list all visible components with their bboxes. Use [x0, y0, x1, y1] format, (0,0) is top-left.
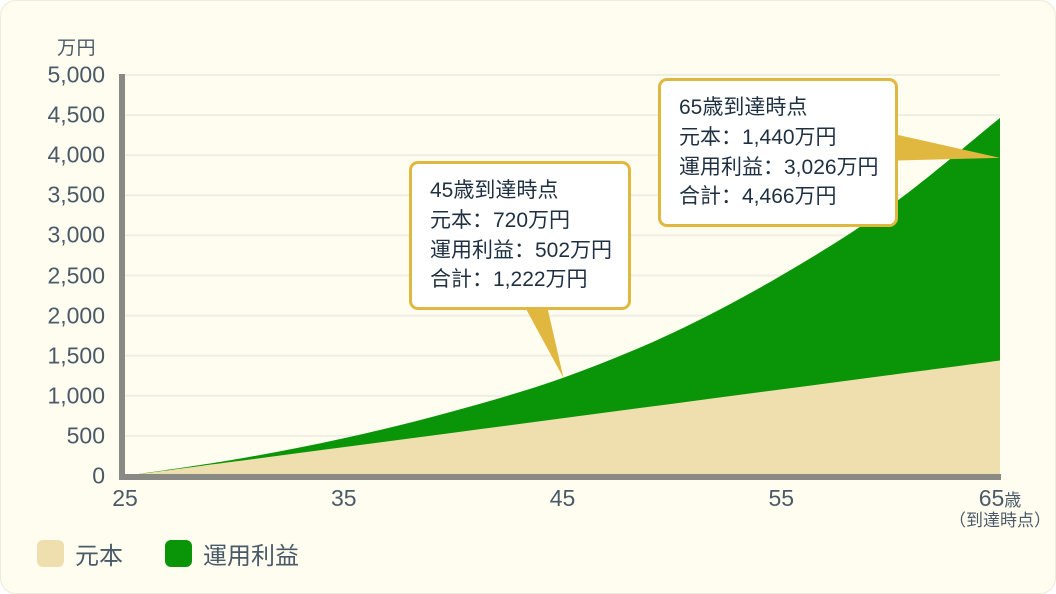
annotation-gain-age45: 運用利益：502万円: [430, 236, 612, 266]
x-axis-tick-45: 45: [550, 485, 576, 511]
y-axis-tick-2000: 2,000: [9, 302, 105, 329]
x-axis-tick-65: 65歳（到達時点）: [949, 485, 1051, 531]
x-axis-tick-55: 55: [768, 485, 794, 511]
annotation-tooltip-age65: 65歳到達時点 元本：1,440万円 運用利益：3,026万円 合計：4,466…: [658, 78, 898, 227]
y-axis-tick-1500: 1,500: [9, 342, 105, 369]
chart-legend: 元本運用利益: [37, 536, 327, 571]
annotation-principal-age45: 元本：720万円: [430, 206, 612, 236]
annotation-gain-age65: 運用利益：3,026万円: [679, 153, 879, 183]
chart-card: 万円 05001,0001,5002,0002,5003,0003,5004,0…: [0, 0, 1056, 594]
legend-label: 運用利益: [203, 536, 299, 571]
legend-item-gain[interactable]: 運用利益: [165, 536, 299, 571]
legend-swatch-gain: [165, 540, 192, 567]
annotation-title-age65: 65歳到達時点: [679, 93, 879, 123]
y-axis-tick-5000: 5,000: [9, 62, 105, 89]
annotation-principal-age65: 元本：1,440万円: [679, 123, 879, 153]
y-axis-tick-500: 500: [9, 422, 105, 449]
y-axis-tick-1000: 1,000: [9, 382, 105, 409]
y-axis-tick-3500: 3,500: [9, 182, 105, 209]
y-axis-tick-0: 0: [9, 463, 105, 490]
x-axis-tick-35: 35: [331, 485, 357, 511]
annotation-tooltip-age45: 45歳到達時点 元本：720万円 運用利益：502万円 合計：1,222万円: [409, 161, 631, 310]
x-axis-tick-25: 25: [112, 485, 138, 511]
y-axis-tick-3000: 3,000: [9, 222, 105, 249]
y-axis-tick-2500: 2,500: [9, 262, 105, 289]
tooltip-pointer-age45: [526, 308, 564, 378]
legend-swatch-principal: [37, 540, 64, 567]
gridline: [125, 74, 1000, 76]
y-axis-tick-4000: 4,000: [9, 142, 105, 169]
annotation-total-age65: 合計：4,466万円: [679, 182, 879, 212]
legend-label: 元本: [75, 536, 123, 571]
y-axis-line: [119, 74, 125, 480]
x-axis-line: [119, 474, 1001, 480]
annotation-total-age45: 合計：1,222万円: [430, 265, 612, 295]
legend-item-principal[interactable]: 元本: [37, 536, 123, 571]
y-axis-tick-4500: 4,500: [9, 102, 105, 129]
annotation-title-age45: 45歳到達時点: [430, 176, 612, 206]
